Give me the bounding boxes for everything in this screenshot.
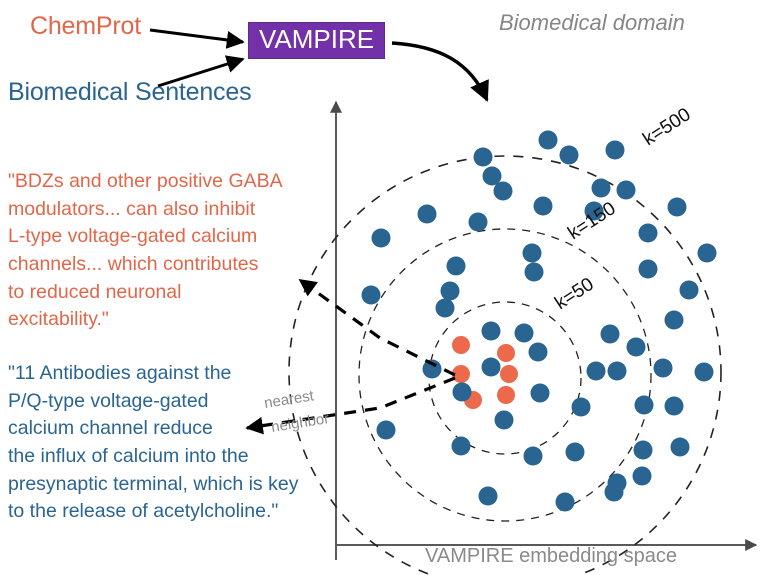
scatter-point [524,447,543,466]
arrow-vampire-to-embedding-space [392,43,487,100]
scatter-point [447,257,466,276]
scatter-point [497,386,515,404]
series-domain-points [362,131,717,512]
scatter-point [372,229,391,248]
biomedical-domain-title: Biomedical domain [499,10,685,36]
scatter-point [479,487,498,506]
scatter-point [531,384,550,403]
scatter-point [556,493,575,512]
scatter-point [441,282,460,301]
scatter-point [668,198,687,217]
scatter-point [654,359,673,378]
scatter-point [523,244,542,263]
retrieved-sentence-quote-red: "BDZs and other positive GABA modulators… [8,168,308,334]
scatter-point [453,383,472,402]
scatter-point [566,443,585,462]
scatter-point [680,281,699,300]
scatter-point [572,398,591,417]
scatter-point [474,148,493,167]
diagram-canvas: k=50k=150k=500 nearest neighbor VAMPIRE … [0,0,763,575]
scatter-point [525,263,544,282]
scatter-point [560,146,579,165]
scatter-point [635,396,654,415]
scatter-point [539,131,558,150]
scatter-point [606,141,625,160]
scatter-point [671,438,690,457]
scatter-point [587,362,606,381]
k-ring-label-k50: k=50 [551,274,597,314]
scatter-point [633,467,652,486]
scatter-point [500,365,518,383]
vampire-model-box: VAMPIRE [248,22,385,59]
k-ring-label-k500: k=500 [639,104,694,150]
scatter-point [617,181,636,200]
scatter-point [592,179,611,198]
scatter-point [639,224,658,243]
scatter-point [436,299,455,318]
scatter-points-group [362,131,717,512]
scatter-point [695,363,714,382]
scatter-point [605,483,624,502]
scatter-point [634,441,653,460]
scatter-point [452,437,471,456]
scatter-point [494,182,513,201]
scatter-point [665,397,684,416]
scatter-point [452,336,470,354]
scatter-point [639,260,658,279]
scatter-point [515,324,534,343]
biomedical-sentences-label: Biomedical Sentences [8,78,251,107]
scatter-point [698,244,717,263]
scatter-point [482,322,501,341]
scatter-point [608,362,627,381]
scatter-point [529,343,548,362]
scatter-point [497,344,515,362]
arrow-chemprot-to-vampire [150,30,243,42]
scatter-point [665,311,684,330]
scatter-point [469,213,488,232]
query-sentence-quote-blue: "11 Antibodies against the P/Q-type volt… [8,360,308,526]
scatter-point [362,286,381,305]
x-axis-label: VAMPIRE embedding space [425,545,677,567]
chemprot-dataset-label: ChemProt [30,12,141,41]
scatter-point [495,411,514,430]
scatter-point [627,338,646,357]
scatter-point [377,421,396,440]
scatter-point [601,325,620,344]
scatter-point [418,205,437,224]
scatter-point [482,358,501,377]
scatter-point [534,197,553,216]
